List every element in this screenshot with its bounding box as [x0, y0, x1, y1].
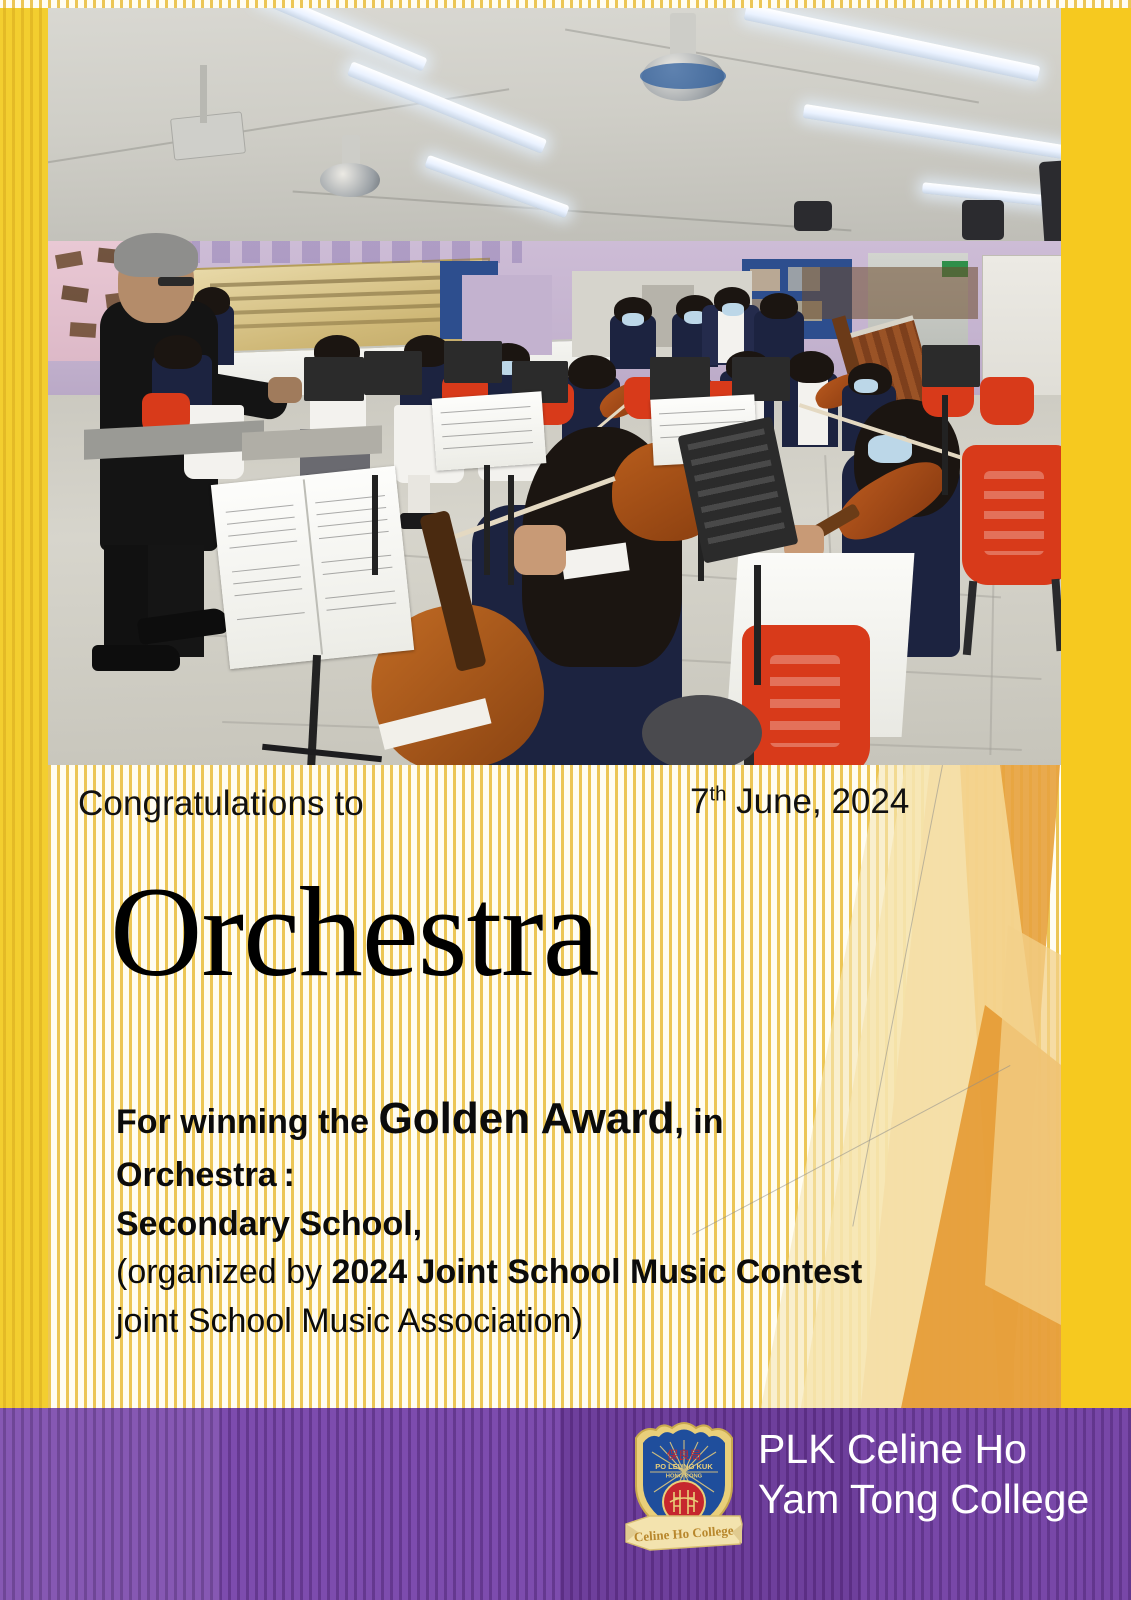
award-line-1-prefix: For winning the: [116, 1103, 379, 1141]
crest-chinese-text: 保良局: [667, 1448, 702, 1462]
wall-speaker: [794, 201, 832, 231]
award-line-1-suffix: , in: [674, 1103, 723, 1141]
sheet-music: [432, 391, 547, 470]
award-poster: Congratulations to 7th June, 2024 Orches…: [0, 0, 1131, 1600]
school-name: PLK Celine Ho Yam Tong College: [758, 1424, 1089, 1524]
stand-pole: [484, 465, 490, 575]
conductor-hair: [114, 233, 198, 277]
page-title: Orchestra: [110, 868, 599, 996]
school-name-line-2: Yam Tong College: [758, 1474, 1089, 1524]
music-stand: [922, 345, 980, 387]
stand-pole: [942, 395, 948, 495]
music-stand: [650, 357, 710, 401]
crest-po-leung-kuk-text: PO LEUNG KUK: [655, 1462, 713, 1471]
face-mask: [722, 303, 744, 316]
chair: [742, 625, 870, 770]
congratulations-label: Congratulations to: [78, 784, 364, 824]
projector-mount: [200, 65, 207, 123]
stand-pole: [754, 565, 761, 685]
award-line-1: For winning the Golden Award, in: [116, 1088, 996, 1151]
student-hair: [760, 293, 798, 319]
face-mask: [622, 313, 644, 326]
frame-right-yellow: [1061, 0, 1131, 1412]
school-crest-logo: 保良局 PO LEUNG KUK HONG KONG Celine Ho Col…: [622, 1412, 746, 1562]
award-body-text: For winning the Golden Award, in Orchest…: [116, 1088, 996, 1345]
ceiling-fan-blade: [640, 63, 726, 89]
stand-pole: [508, 475, 514, 585]
piano: [802, 267, 978, 319]
face-mask: [854, 379, 878, 393]
wall-speaker: [962, 200, 1004, 240]
award-name: Golden Award: [379, 1094, 675, 1143]
conductor-shoe: [92, 645, 180, 671]
projector-icon: [170, 111, 246, 160]
student-hair: [788, 351, 834, 383]
glasses-icon: [158, 277, 194, 286]
stand-pole: [372, 475, 378, 575]
student-hand: [514, 525, 566, 575]
music-stand: [304, 357, 364, 401]
date-rest: June, 2024: [726, 782, 909, 821]
sheet-music: [211, 466, 414, 669]
crest-hong-kong-text: HONG KONG: [666, 1474, 703, 1480]
date-ordinal-suffix: th: [709, 783, 726, 805]
organizer-prefix: (organized by: [116, 1253, 331, 1291]
school-name-line-1: PLK Celine Ho: [758, 1424, 1089, 1474]
music-club-sign: [182, 241, 522, 263]
organizer-name: 2024 Joint School Music Contest: [331, 1253, 862, 1291]
conductor-hand: [268, 377, 302, 403]
date-day: 7: [690, 782, 709, 821]
award-line-5: joint School Music Association): [116, 1297, 996, 1346]
frame-top-strip: [0, 0, 1131, 8]
music-stand: [364, 351, 422, 395]
award-line-2: Orchestra :: [116, 1151, 996, 1200]
chair: [962, 445, 1066, 585]
chair: [980, 377, 1034, 425]
frame-left-yellow: [0, 0, 48, 1412]
student-hair: [568, 355, 616, 389]
student-hair: [154, 335, 202, 369]
stool: [642, 695, 762, 770]
event-date: 7th June, 2024: [690, 782, 909, 822]
music-stand: [444, 341, 502, 383]
award-line-3: Secondary School,: [116, 1200, 996, 1249]
footer-shade-left: [0, 1408, 220, 1600]
orchestra-rehearsal-photo: [42, 5, 1066, 770]
ceiling-fan: [320, 163, 380, 197]
award-line-4: (organized by 2024 Joint School Music Co…: [116, 1248, 996, 1297]
